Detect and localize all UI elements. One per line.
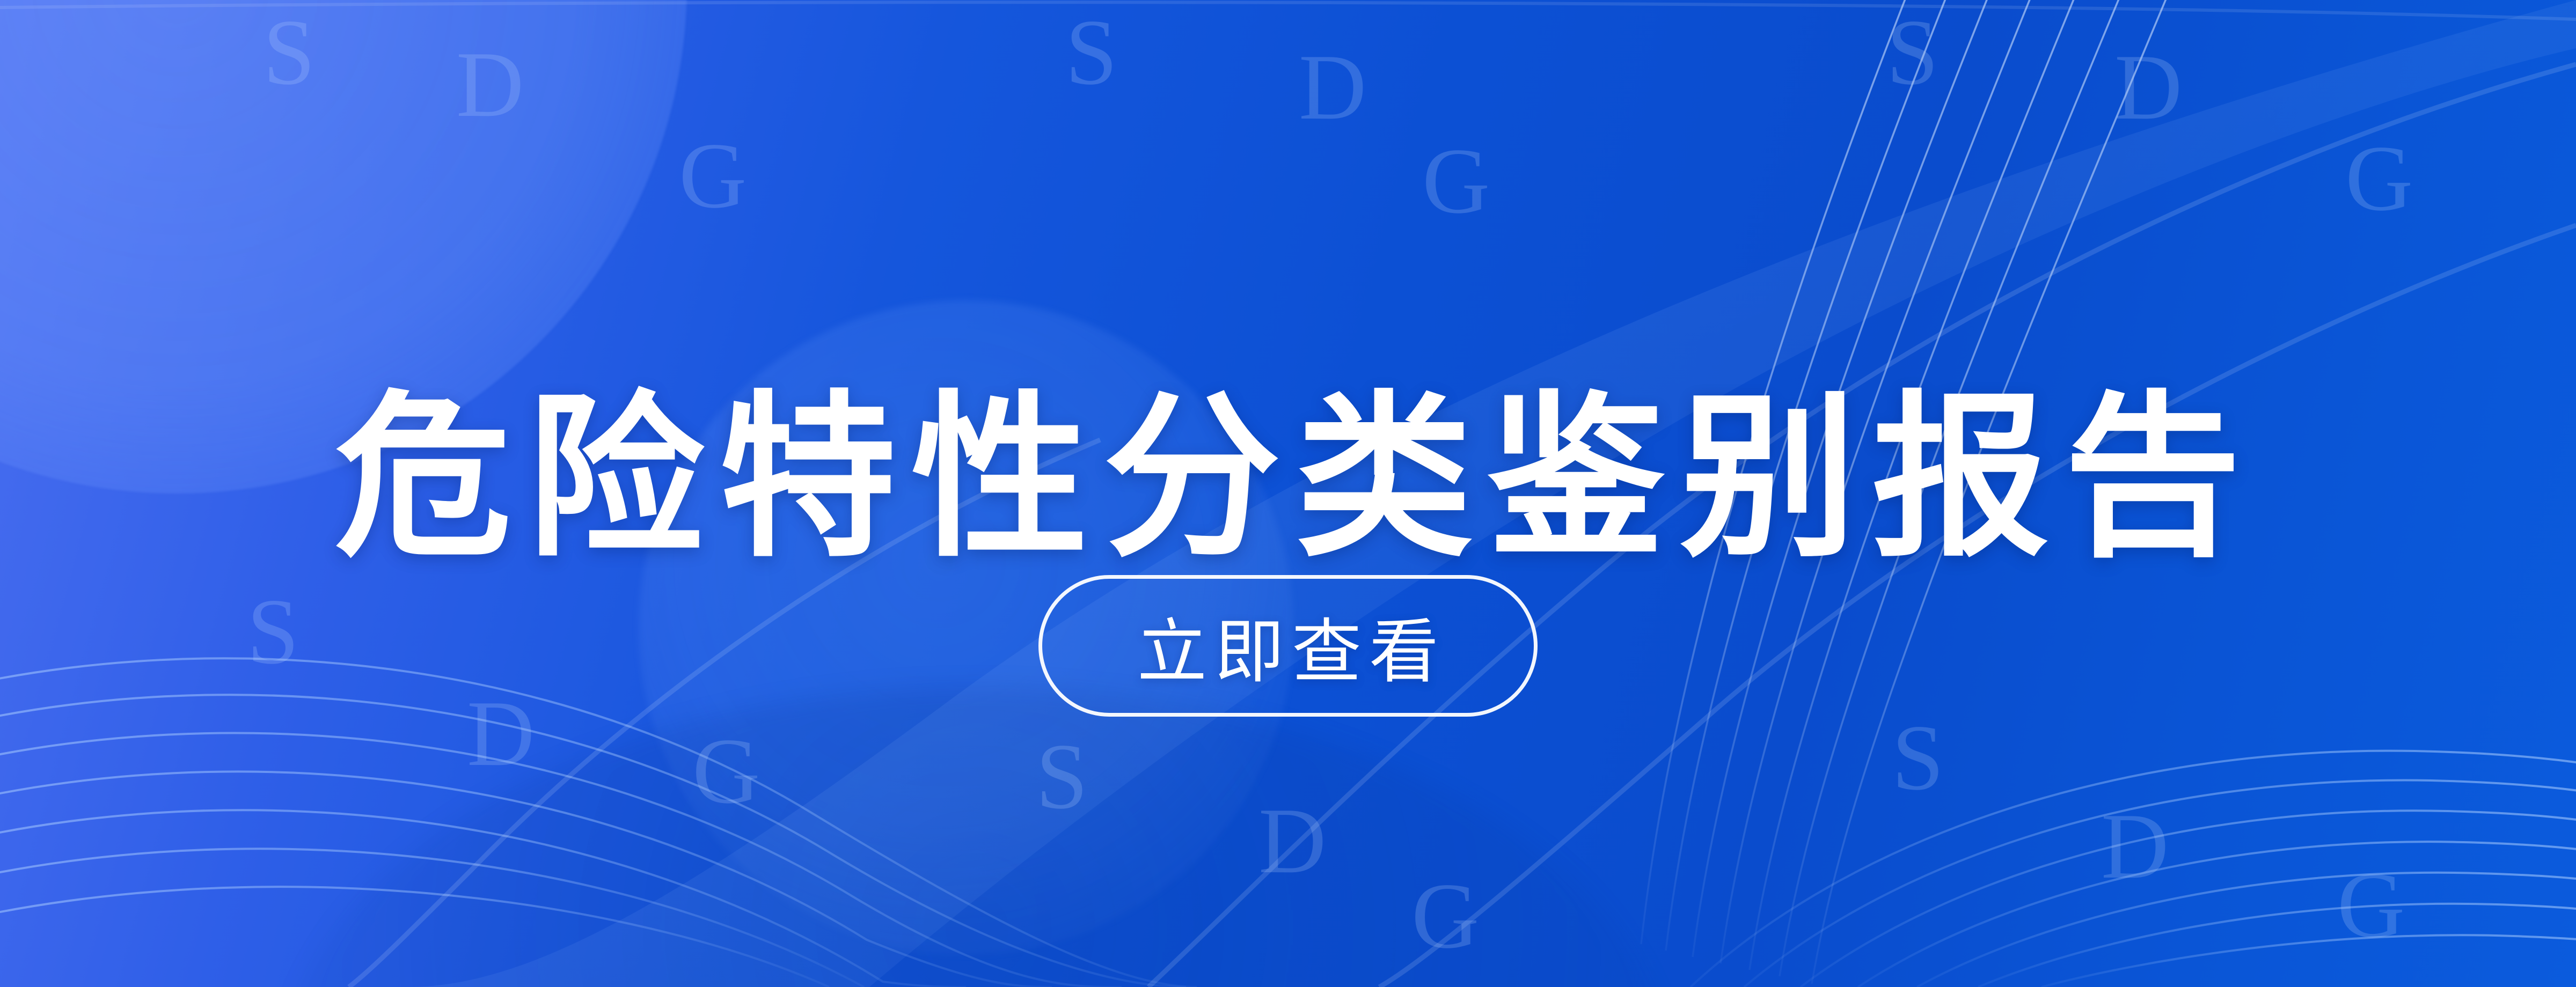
- view-now-button[interactable]: 立即查看: [1038, 575, 1538, 717]
- cta-container: 立即查看: [0, 575, 2576, 717]
- page-title: 危险特性分类鉴别报告: [0, 382, 2576, 573]
- banner-content: 危险特性分类鉴别报告 立即查看: [0, 0, 2576, 987]
- promo-banner: SDGSDGSDGSDGSDGSDG 危险特性分类鉴别报告 立即查看: [0, 0, 2576, 987]
